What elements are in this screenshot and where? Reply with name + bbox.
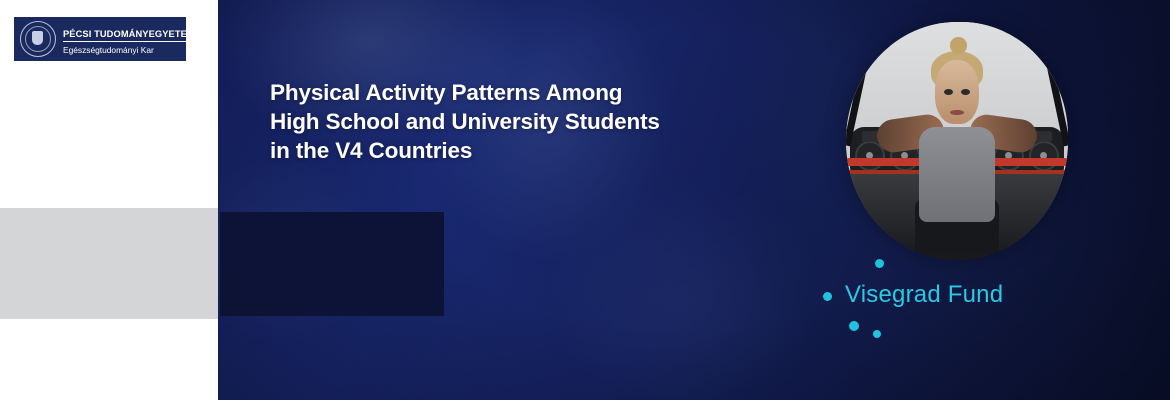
logo-pecsi-tudomanyegyetem: PÉCSI TUDOMÁNYEGYETEM Egészségtudományi … xyxy=(14,17,186,61)
university-seal-icon xyxy=(20,21,56,57)
title-line-2: High School and University Students xyxy=(270,107,660,136)
logo-pecsi-line1: PÉCSI TUDOMÁNYEGYETEM xyxy=(63,29,195,43)
logo-slot-pecsi: PÉCSI TUDOMÁNYEGYETEM Egészségtudományi … xyxy=(0,0,218,104)
visegrad-dot-2 xyxy=(823,292,832,301)
conference-banner: PÉCSI TUDOMÁNYEGYETEM Egészségtudományi … xyxy=(0,0,1170,400)
banner-title: Physical Activity Patterns Among High Sc… xyxy=(270,78,660,165)
visegrad-fund-logo: Visegrad Fund xyxy=(845,281,1003,309)
logo-pecsi-line2: Egészségtudományi Kar xyxy=(63,45,195,56)
logo-slot-jihoceska: Jihočeská univerzita v Českých Budějovic… xyxy=(0,319,218,400)
athlete-photo-circle xyxy=(846,22,1068,260)
dark-content-placeholder xyxy=(220,212,444,316)
visegrad-dot-1 xyxy=(875,259,884,268)
partner-logo-sidebar: PÉCSI TUDOMÁNYEGYETEM Egészségtudományi … xyxy=(0,0,218,400)
visegrad-fund-label: Visegrad Fund xyxy=(845,281,1003,309)
title-line-1: Physical Activity Patterns Among xyxy=(270,78,660,107)
banner-stage: Physical Activity Patterns Among High Sc… xyxy=(218,0,1170,400)
logo-slot-upjs-kosice: UNIVERZITA PAVLA JOZEFA ŠAFÁRIKA V KOŠIC… xyxy=(0,208,218,319)
visegrad-dot-3 xyxy=(849,321,859,331)
title-line-3: in the V4 Countries xyxy=(270,136,660,165)
logo-slot-akademia-bialska: AB AKADEMIA BIALSKA xyxy=(0,104,218,208)
visegrad-dot-4 xyxy=(873,330,881,338)
